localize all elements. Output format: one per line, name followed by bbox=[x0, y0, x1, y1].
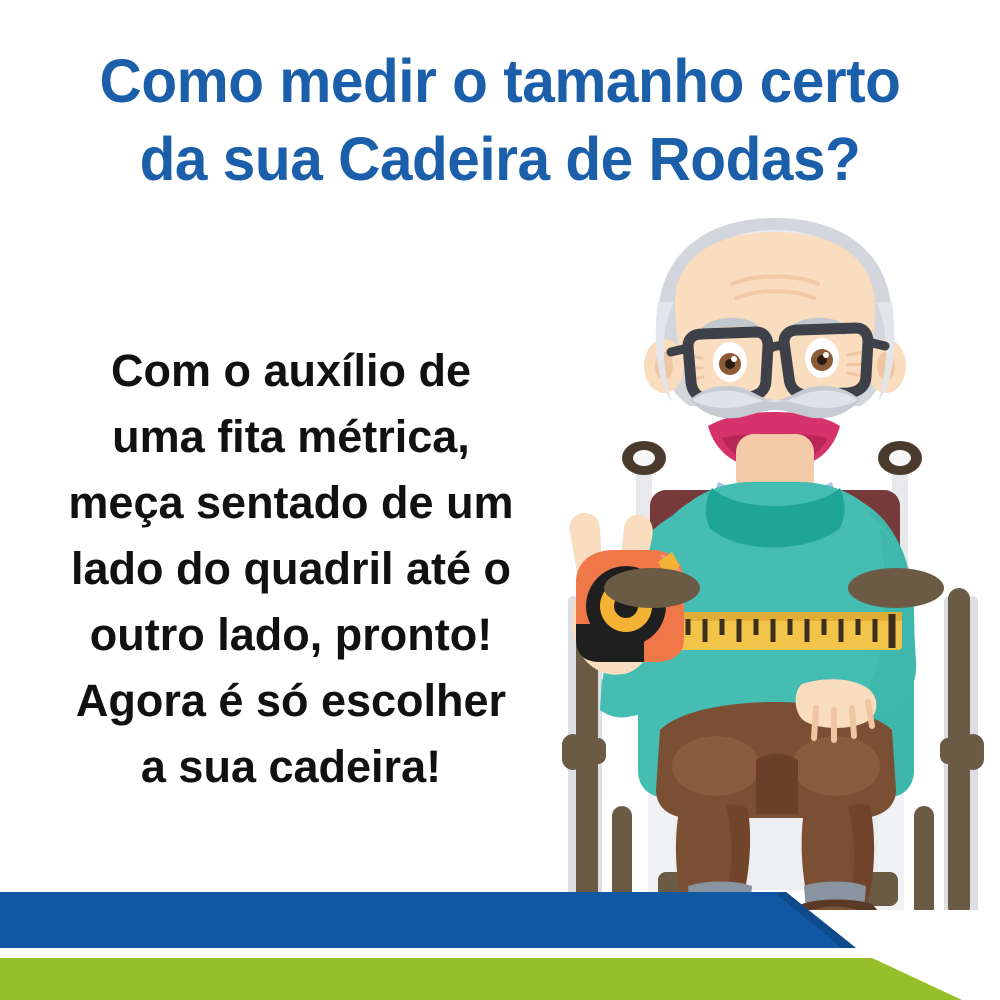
body-line-3: meça sentado de um bbox=[18, 470, 564, 536]
body-line-6: Agora é só escolher bbox=[18, 668, 564, 734]
title-line-2: da sua Cadeira de Rodas? bbox=[20, 120, 980, 198]
title-line-1: Como medir o tamanho certo bbox=[20, 42, 980, 120]
wheelchair-wheel-right bbox=[914, 588, 984, 910]
elderly-man-wheelchair-illustration bbox=[540, 210, 1000, 910]
bottom-decorative-bars bbox=[0, 880, 1000, 1000]
blue-bar bbox=[0, 892, 856, 948]
body-line-1: Com o auxílio de bbox=[18, 338, 564, 404]
body-line-7: a sua cadeira! bbox=[18, 734, 564, 800]
body-line-5: outro lado, pronto! bbox=[18, 602, 564, 668]
body-paragraph: Com o auxílio de uma fita métrica, meça … bbox=[18, 338, 564, 800]
body-line-4: lado do quadril até o bbox=[18, 536, 564, 602]
page-title: Como medir o tamanho certo da sua Cadeir… bbox=[0, 42, 1000, 198]
green-bar bbox=[0, 958, 962, 1000]
body-line-2: uma fita métrica, bbox=[18, 404, 564, 470]
poster-canvas: Como medir o tamanho certo da sua Cadeir… bbox=[0, 0, 1000, 1000]
